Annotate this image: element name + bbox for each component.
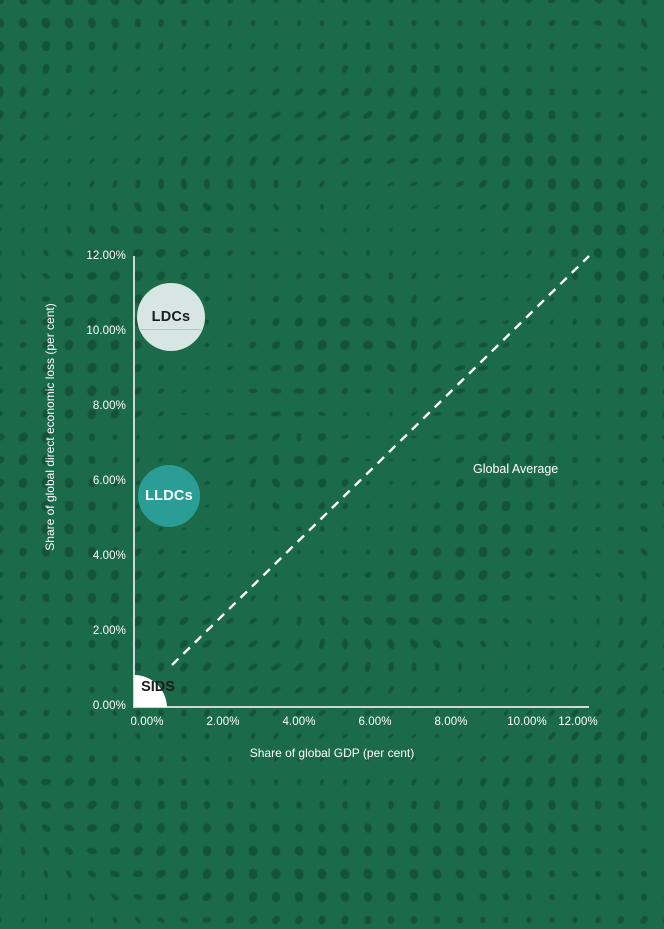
global-average-label: Global Average [473, 462, 558, 476]
bubble-lldcs-label: LLDCs [145, 488, 193, 504]
global-average-reference-line [0, 0, 664, 929]
bubble-ldcs[interactable]: LDCs [137, 283, 205, 351]
bubble-ldcs-label: LDCs [152, 309, 191, 325]
scatter-chart: 12.00% 10.00% 8.00% 6.00% 4.00% 2.00% 0.… [0, 0, 664, 929]
bubble-lldcs[interactable]: LLDCs [138, 465, 200, 527]
bubble-sids-label: SIDS [128, 674, 188, 700]
bubble-ldcs-divider [139, 329, 203, 330]
